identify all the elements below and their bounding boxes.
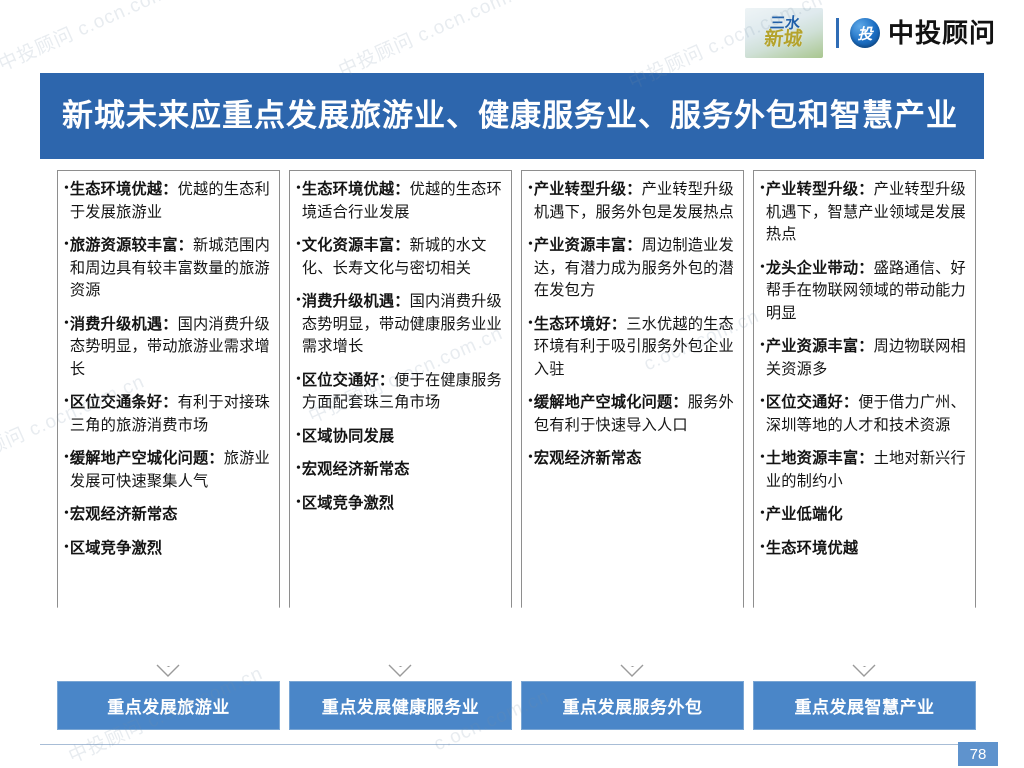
bullet-label: 产业转型升级： <box>766 181 874 198</box>
bullet-dot-icon: • <box>296 371 301 390</box>
bullet-item: •缓解地产空城化问题：服务外包有利于快速导入人口 <box>528 392 738 437</box>
page-number-badge: 78 <box>958 742 998 766</box>
bullet-dot-icon: • <box>64 315 69 334</box>
bullet-item: •生态环境优越：优越的生态利于发展旅游业 <box>64 179 274 224</box>
bullet-label: 消费升级机遇： <box>302 293 410 310</box>
conclusion-box-tourism: 重点发展旅游业 <box>57 681 280 730</box>
conclusion-box-health-service: 重点发展健康服务业 <box>289 681 512 730</box>
bullet-text: 产业低端化 <box>766 504 843 527</box>
bullet-label: 区位交通条好： <box>70 394 178 411</box>
column-body-health-service: •生态环境优越：优越的生态环境适合行业发展•文化资源丰富：新城的水文化、长寿文化… <box>289 170 512 526</box>
bullet-text: 生态环境好：三水优越的生态环境有利于吸引服务外包企业入驻 <box>534 314 738 382</box>
conclusion-box-service-outsourcing: 重点发展服务外包 <box>521 681 744 730</box>
column-body-tourism: •生态环境优越：优越的生态利于发展旅游业•旅游资源较丰富：新城范围内和周边具有较… <box>57 170 280 571</box>
bullet-dot-icon: • <box>64 393 69 412</box>
bullet-text: 缓解地产空城化问题：旅游业发展可快速聚集人气 <box>70 448 274 493</box>
bullet-text: 产业转型升级：产业转型升级机遇下，智慧产业领域是发展热点 <box>766 179 970 247</box>
bullet-item: •生态环境优越 <box>760 538 970 561</box>
bullet-text: 龙头企业带动：盛路通信、好帮手在物联网领域的带动能力明显 <box>766 258 970 326</box>
bullet-label: 区域协同发展 <box>302 428 394 445</box>
bullet-text: 区位交通好：便于在健康服务方面配套珠三角市场 <box>302 370 506 415</box>
bullet-item: •消费升级机遇：国内消费升级态势明显，带动健康服务业业需求增长 <box>296 291 506 359</box>
chevron-down-icon <box>387 663 413 679</box>
bullet-label: 区域竞争激烈 <box>302 495 394 512</box>
bullet-item: •消费升级机遇：国内消费升级态势明显，带动旅游业需求增长 <box>64 314 274 382</box>
column-health-service: •生态环境优越：优越的生态环境适合行业发展•文化资源丰富：新城的水文化、长寿文化… <box>289 170 512 667</box>
bullet-text: 缓解地产空城化问题：服务外包有利于快速导入人口 <box>534 392 738 437</box>
bullet-item: •区域竞争激烈 <box>296 493 506 516</box>
column-body-service-outsourcing: •产业转型升级：产业转型升级机遇下，服务外包是发展热点•产业资源丰富：周边制造业… <box>521 170 744 482</box>
bullet-item: •生态环境好：三水优越的生态环境有利于吸引服务外包企业入驻 <box>528 314 738 382</box>
bullet-dot-icon: • <box>760 505 765 524</box>
bullet-text: 生态环境优越 <box>766 538 858 561</box>
bullet-text: 区域竞争激烈 <box>70 538 162 561</box>
conclusion-label: 重点发展服务外包 <box>563 693 703 718</box>
bullet-item: •宏观经济新常态 <box>64 504 274 527</box>
bullet-item: •缓解地产空城化问题：旅游业发展可快速聚集人气 <box>64 448 274 493</box>
bullet-text: 消费升级机遇：国内消费升级态势明显，带动旅游业需求增长 <box>70 314 274 382</box>
bullet-dot-icon: • <box>296 180 301 199</box>
bullet-text: 生态环境优越：优越的生态环境适合行业发展 <box>302 179 506 224</box>
sanshui-xincheng-logo-icon: 三水 新城 <box>745 8 823 58</box>
bullet-dot-icon: • <box>528 315 533 334</box>
bullet-label: 生态环境优越 <box>766 540 858 557</box>
bullet-item: •产业转型升级：产业转型升级机遇下，服务外包是发展热点 <box>528 179 738 224</box>
bullet-dot-icon: • <box>64 236 69 255</box>
bullet-dot-icon: • <box>64 449 69 468</box>
bullet-item: •区位交通好：便于在健康服务方面配套珠三角市场 <box>296 370 506 415</box>
bullet-label: 生态环境好： <box>534 316 626 333</box>
bullet-dot-icon: • <box>528 180 533 199</box>
bullet-label: 区位交通好： <box>766 394 858 411</box>
bullet-dot-icon: • <box>760 539 765 558</box>
bullet-item: •土地资源丰富：土地对新兴行业的制约小 <box>760 448 970 493</box>
bullet-text: 旅游资源较丰富：新城范围内和周边具有较丰富数量的旅游资源 <box>70 235 274 303</box>
bullet-label: 宏观经济新常态 <box>70 506 178 523</box>
bullet-label: 区域竞争激烈 <box>70 540 162 557</box>
bullet-text: 区位交通条好：有利于对接珠三角的旅游消费市场 <box>70 392 274 437</box>
chevron-down-icon <box>155 663 181 679</box>
page-title: 新城未来应重点发展旅游业、健康服务业、服务外包和智慧产业 <box>62 96 958 137</box>
column-body-smart-industry: •产业转型升级：产业转型升级机遇下，智慧产业领域是发展热点•龙头企业带动：盛路通… <box>753 170 976 571</box>
bullet-dot-icon: • <box>528 393 533 412</box>
conclusion-box-smart-industry: 重点发展智慧产业 <box>753 681 976 730</box>
bullet-item: •龙头企业带动：盛路通信、好帮手在物联网领域的带动能力明显 <box>760 258 970 326</box>
chevron-down-icon <box>851 663 877 679</box>
bullet-item: •区位交通好：便于借力广州、深圳等地的人才和技术资源 <box>760 392 970 437</box>
bullet-label: 产业转型升级： <box>534 181 642 198</box>
bullet-item: •宏观经济新常态 <box>528 448 738 471</box>
bullet-item: •生态环境优越：优越的生态环境适合行业发展 <box>296 179 506 224</box>
bullet-label: 消费升级机遇： <box>70 316 178 333</box>
bullet-dot-icon: • <box>528 449 533 468</box>
bullet-dot-icon: • <box>296 236 301 255</box>
bullet-dot-icon: • <box>64 180 69 199</box>
bullet-text: 生态环境优越：优越的生态利于发展旅游业 <box>70 179 274 224</box>
bullet-label: 产业资源丰富： <box>534 237 642 254</box>
bullet-text: 宏观经济新常态 <box>302 459 410 482</box>
chevron-down-icon <box>619 663 645 679</box>
bullet-text: 文化资源丰富：新城的水文化、长寿文化与密切相关 <box>302 235 506 280</box>
bullet-dot-icon: • <box>760 180 765 199</box>
slide-header: 三水 新城 投 中投顾问 <box>0 0 1024 66</box>
bullet-item: •宏观经济新常态 <box>296 459 506 482</box>
bullet-item: •区域竞争激烈 <box>64 538 274 561</box>
bullet-item: •区域协同发展 <box>296 426 506 449</box>
bullet-text: 区域竞争激烈 <box>302 493 394 516</box>
bullet-dot-icon: • <box>760 259 765 278</box>
bullet-label: 缓解地产空城化问题： <box>70 450 224 467</box>
bullet-text: 产业资源丰富：周边物联网相关资源多 <box>766 336 970 381</box>
bullet-text: 宏观经济新常态 <box>70 504 178 527</box>
bullet-label: 宏观经济新常态 <box>534 450 642 467</box>
bullet-label: 文化资源丰富： <box>302 237 410 254</box>
bullet-item: •文化资源丰富：新城的水文化、长寿文化与密切相关 <box>296 235 506 280</box>
bullet-text: 产业转型升级：产业转型升级机遇下，服务外包是发展热点 <box>534 179 738 224</box>
conclusion-label: 重点发展健康服务业 <box>322 693 480 718</box>
bullet-dot-icon: • <box>760 393 765 412</box>
conclusion-row: 重点发展旅游业重点发展健康服务业重点发展服务外包重点发展智慧产业 <box>0 681 1024 733</box>
bullet-label: 产业资源丰富： <box>766 338 874 355</box>
conclusion-label: 重点发展智慧产业 <box>795 693 935 718</box>
bullet-dot-icon: • <box>296 460 301 479</box>
bullet-item: •区位交通条好：有利于对接珠三角的旅游消费市场 <box>64 392 274 437</box>
bullet-text: 产业资源丰富：周边制造业发达，有潜力成为服务外包的潜在发包方 <box>534 235 738 303</box>
column-smart-industry: •产业转型升级：产业转型升级机遇下，智慧产业领域是发展热点•龙头企业带动：盛路通… <box>753 170 976 667</box>
bullet-text: 区域协同发展 <box>302 426 394 449</box>
bullet-label: 产业低端化 <box>766 506 843 523</box>
bullet-label: 土地资源丰富： <box>766 450 874 467</box>
bullet-text: 区位交通好：便于借力广州、深圳等地的人才和技术资源 <box>766 392 970 437</box>
bullet-dot-icon: • <box>64 539 69 558</box>
bullet-label: 龙头企业带动： <box>766 260 874 277</box>
bullet-item: •产业低端化 <box>760 504 970 527</box>
logo-sanshui-main: 新城 <box>763 31 803 49</box>
bullet-label: 宏观经济新常态 <box>302 461 410 478</box>
slide-title-bar: 新城未来应重点发展旅游业、健康服务业、服务外包和智慧产业 <box>40 73 984 159</box>
logo-divider <box>836 18 839 48</box>
bullet-item: •产业转型升级：产业转型升级机遇下，智慧产业领域是发展热点 <box>760 179 970 247</box>
bullet-dot-icon: • <box>760 337 765 356</box>
zhongtou-logo-text: 中投顾问 <box>888 20 996 46</box>
column-tourism: •生态环境优越：优越的生态利于发展旅游业•旅游资源较丰富：新城范围内和周边具有较… <box>57 170 280 667</box>
bullet-item: •旅游资源较丰富：新城范围内和周边具有较丰富数量的旅游资源 <box>64 235 274 303</box>
footer-divider <box>40 744 984 745</box>
bullet-label: 区位交通好： <box>302 372 394 389</box>
zhongtou-badge-icon: 投 <box>850 18 880 48</box>
bullet-item: •产业资源丰富：周边制造业发达，有潜力成为服务外包的潜在发包方 <box>528 235 738 303</box>
bullet-dot-icon: • <box>296 427 301 446</box>
bullet-text: 消费升级机遇：国内消费升级态势明显，带动健康服务业业需求增长 <box>302 291 506 359</box>
bullet-dot-icon: • <box>760 449 765 468</box>
conclusion-label: 重点发展旅游业 <box>107 693 230 718</box>
bullet-item: •产业资源丰富：周边物联网相关资源多 <box>760 336 970 381</box>
bullet-text: 宏观经济新常态 <box>534 448 642 471</box>
logo-group: 三水 新城 投 中投顾问 <box>745 6 996 60</box>
columns-container: •生态环境优越：优越的生态利于发展旅游业•旅游资源较丰富：新城范围内和周边具有较… <box>0 170 1024 670</box>
bullet-label: 生态环境优越： <box>70 181 178 198</box>
bullet-label: 生态环境优越： <box>302 181 410 198</box>
bullet-label: 旅游资源较丰富： <box>70 237 193 254</box>
bullet-dot-icon: • <box>64 505 69 524</box>
column-service-outsourcing: •产业转型升级：产业转型升级机遇下，服务外包是发展热点•产业资源丰富：周边制造业… <box>521 170 744 667</box>
bullet-text: 土地资源丰富：土地对新兴行业的制约小 <box>766 448 970 493</box>
bullet-dot-icon: • <box>528 236 533 255</box>
bullet-label: 缓解地产空城化问题： <box>534 394 688 411</box>
zhongtou-logo: 投 中投顾问 <box>850 18 996 48</box>
bullet-dot-icon: • <box>296 292 301 311</box>
bullet-dot-icon: • <box>296 494 301 513</box>
